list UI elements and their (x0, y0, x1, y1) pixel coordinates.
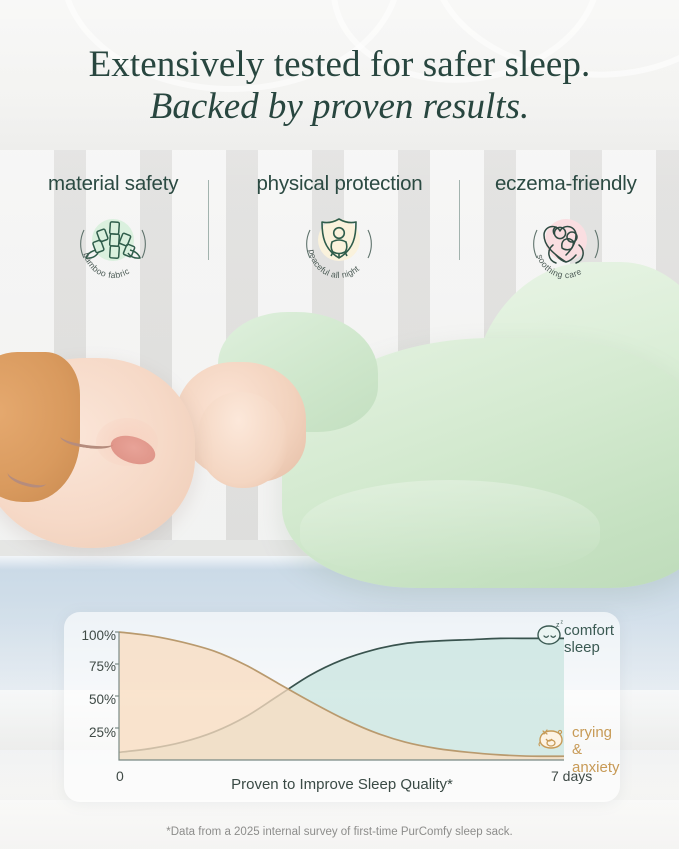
legend-crying-anxiety: crying & anxiety (572, 724, 620, 776)
sleep-quality-chart-card: 100% 75% 50% 25% 0 7 days Proven to Impr… (64, 612, 620, 802)
page-title: Extensively tested for safer sleep. Back… (0, 44, 679, 130)
legend-line-2: & anxiety (572, 741, 620, 775)
badge-label: material safety (48, 172, 178, 196)
legend-comfort-sleep: comfort sleep (564, 622, 614, 657)
hands-heart-baby-icon: soothing care (523, 200, 609, 286)
badge-mark: soothing care (523, 200, 609, 286)
y-tick-100: 100% (74, 628, 116, 643)
badge-divider (459, 180, 460, 260)
svg-text:z: z (561, 620, 564, 626)
badge-mark: peaceful all night (296, 200, 382, 286)
crying-baby-face-icon (532, 722, 570, 754)
feature-badges: material safety (0, 172, 679, 286)
badge-eczema-friendly[interactable]: eczema-friendly (453, 172, 679, 286)
badge-label: eczema-friendly (495, 172, 637, 196)
chart-caption: Proven to Improve Sleep Quality* (64, 776, 620, 793)
headline-line-2: Backed by proven results. (0, 85, 679, 129)
badge-divider (208, 180, 209, 260)
bamboo-stalks-icon: bamboo fabric (70, 200, 156, 286)
legend-line-2: sleep (564, 639, 600, 656)
badge-physical-protection[interactable]: physical protection peaceful all night (226, 172, 452, 286)
promo-image: Extensively tested for safer sleep. Back… (0, 0, 679, 849)
legend-line-1: crying (572, 724, 612, 741)
y-tick-50: 50% (74, 692, 116, 707)
svg-text:z: z (556, 622, 560, 629)
badge-label: physical protection (256, 172, 422, 196)
y-tick-25: 25% (74, 725, 116, 740)
shield-baby-icon: peaceful all night (296, 200, 382, 286)
y-tick-75: 75% (74, 659, 116, 674)
chart-area: 100% 75% 50% 25% 0 7 days Proven to Impr… (64, 612, 620, 802)
badge-material-safety[interactable]: material safety (0, 172, 226, 286)
legend-line-1: comfort (564, 622, 614, 639)
headline-line-1: Extensively tested for safer sleep. (0, 44, 679, 85)
badge-mark: bamboo fabric (70, 200, 156, 286)
footnote: *Data from a 2025 internal survey of fir… (0, 826, 679, 838)
sleeping-baby-face-icon: z z (532, 620, 566, 650)
